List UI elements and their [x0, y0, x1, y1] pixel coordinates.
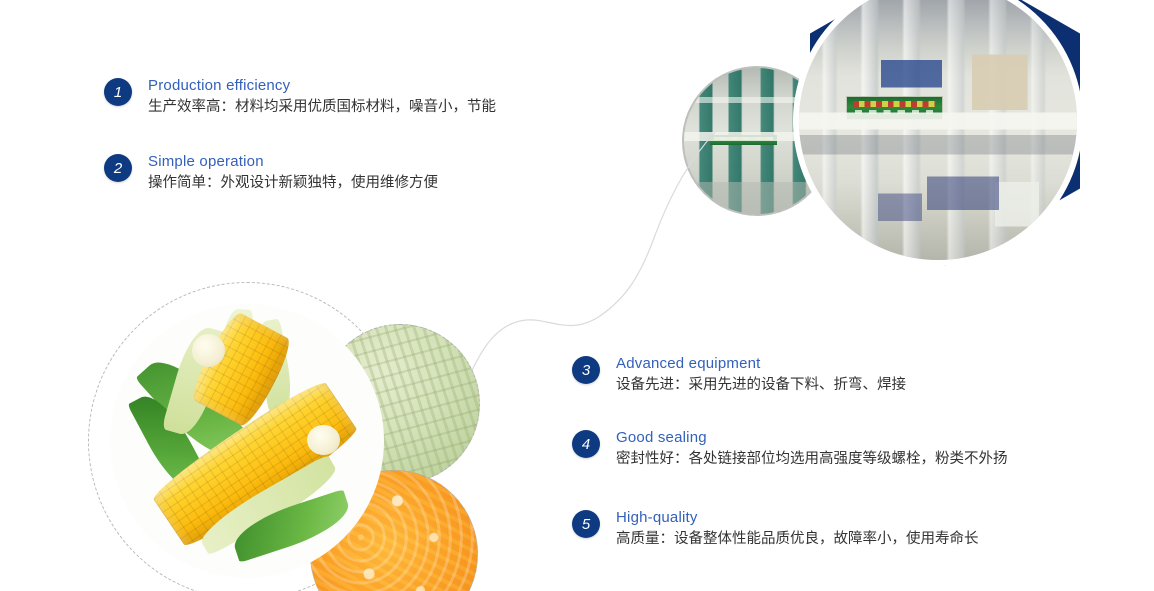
feature-text-3: Advanced equipment 设备先进：采用先进的设备下料、折弯、焊接: [616, 354, 906, 396]
feature-item-2: 2 Simple operation 操作简单：外观设计新颖独特，使用维修方便: [104, 152, 438, 194]
feature-title-en-2: Simple operation: [148, 152, 438, 171]
feature-number-1: 1: [104, 78, 132, 106]
mill-main-scene: [799, 0, 1077, 260]
feature-item-5: 5 High-quality 高质量：设备整体性能品质优良，故障率小，使用寿命长: [572, 508, 979, 550]
corn-milling-plant-photo: [793, 0, 1083, 266]
feature-title-cn-3: 设备先进：采用先进的设备下料、折弯、焊接: [616, 375, 906, 396]
feature-number-5: 5: [572, 510, 600, 538]
feature-infographic: 1 Production efficiency 生产效率高：材料均采用优质国标材…: [0, 0, 1154, 591]
feature-item-3: 3 Advanced equipment 设备先进：采用先进的设备下料、折弯、焊…: [572, 354, 906, 396]
fresh-corn-cob-photo: [110, 304, 384, 578]
feature-item-4: 4 Good sealing 密封性好：各处链接部位均选用高强度等级螺栓，粉类不…: [572, 428, 1008, 470]
feature-title-en-3: Advanced equipment: [616, 354, 906, 373]
corn-photo-group: [88, 282, 488, 591]
feature-title-cn-2: 操作简单：外观设计新颖独特，使用维修方便: [148, 173, 438, 194]
feature-text-5: High-quality 高质量：设备整体性能品质优良，故障率小，使用寿命长: [616, 508, 979, 550]
feature-title-en-4: Good sealing: [616, 428, 1008, 447]
banner-sign-small: [710, 135, 777, 145]
feature-title-cn-4: 密封性好：各处链接部位均选用高强度等级螺栓，粉类不外扬: [616, 449, 1008, 470]
feature-text-4: Good sealing 密封性好：各处链接部位均选用高强度等级螺栓，粉类不外扬: [616, 428, 1008, 470]
feature-item-1: 1 Production efficiency 生产效率高：材料均采用优质国标材…: [104, 76, 496, 118]
banner-sign-main: [846, 96, 943, 120]
feature-title-cn-1: 生产效率高：材料均采用优质国标材料，噪音小，节能: [148, 97, 496, 118]
feature-title-en-5: High-quality: [616, 508, 979, 527]
feature-number-4: 4: [572, 430, 600, 458]
feature-title-cn-5: 高质量：设备整体性能品质优良，故障率小，使用寿命长: [616, 529, 979, 550]
corn-illustration: [110, 304, 384, 578]
feature-text-2: Simple operation 操作简单：外观设计新颖独特，使用维修方便: [148, 152, 438, 194]
feature-title-en-1: Production efficiency: [148, 76, 496, 95]
plant-photo-group: [660, 0, 1154, 276]
feature-number-2: 2: [104, 154, 132, 182]
feature-text-1: Production efficiency 生产效率高：材料均采用优质国标材料，…: [148, 76, 496, 118]
feature-number-3: 3: [572, 356, 600, 384]
